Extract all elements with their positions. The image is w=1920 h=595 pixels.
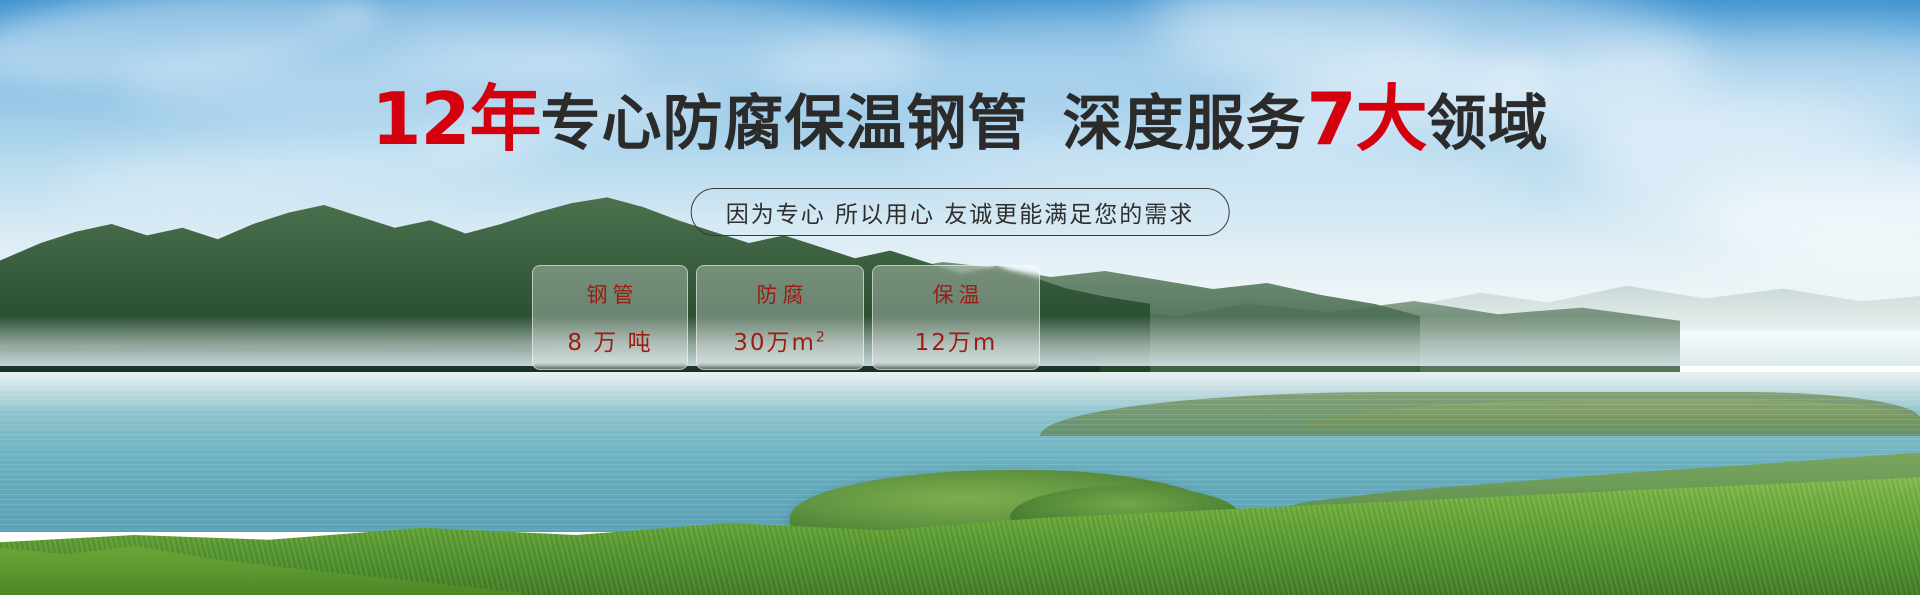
headline: 12年专心防腐保温钢管深度服务7大领域 xyxy=(0,86,1920,157)
headline-fields-text: 领域 xyxy=(1427,89,1549,159)
stat-value-text: 30万m xyxy=(733,330,816,356)
stat-card-anticorrosion: 防腐 30万m2 xyxy=(696,265,864,370)
stat-card-value: 30万m2 xyxy=(733,323,827,357)
stat-value-superscript: 2 xyxy=(816,329,827,345)
headline-years: 12年 xyxy=(371,77,540,161)
promotional-banner: 12年专心防腐保温钢管深度服务7大领域 因为专心 所以用心 友诚更能满足您的需求… xyxy=(0,0,1920,595)
stat-value-text: 8 万 吨 xyxy=(567,330,652,356)
stat-card-value: 8 万 吨 xyxy=(567,323,652,357)
subtitle-text: 因为专心 所以用心 友诚更能满足您的需求 xyxy=(726,195,1195,229)
subtitle-pill: 因为专心 所以用心 友诚更能满足您的需求 xyxy=(691,188,1230,236)
stat-value-text: 12万m xyxy=(915,330,998,356)
stat-card-insulation: 保温 12万m xyxy=(872,265,1040,370)
stat-card-label: 防腐 xyxy=(752,279,809,309)
stat-card-label: 钢管 xyxy=(582,279,639,309)
stat-card-label: 保温 xyxy=(928,279,985,309)
stat-card-steel-pipe: 钢管 8 万 吨 xyxy=(532,265,688,370)
stat-cards: 钢管 8 万 吨 防腐 30万m2 保温 12万m xyxy=(532,265,1040,370)
stat-card-value: 12万m xyxy=(915,323,998,357)
banner-content: 12年专心防腐保温钢管深度服务7大领域 因为专心 所以用心 友诚更能满足您的需求… xyxy=(0,0,1920,595)
headline-fields-number: 7大 xyxy=(1307,77,1427,161)
headline-service: 深度服务 xyxy=(1063,89,1307,159)
headline-main: 专心防腐保温钢管 xyxy=(541,89,1029,159)
